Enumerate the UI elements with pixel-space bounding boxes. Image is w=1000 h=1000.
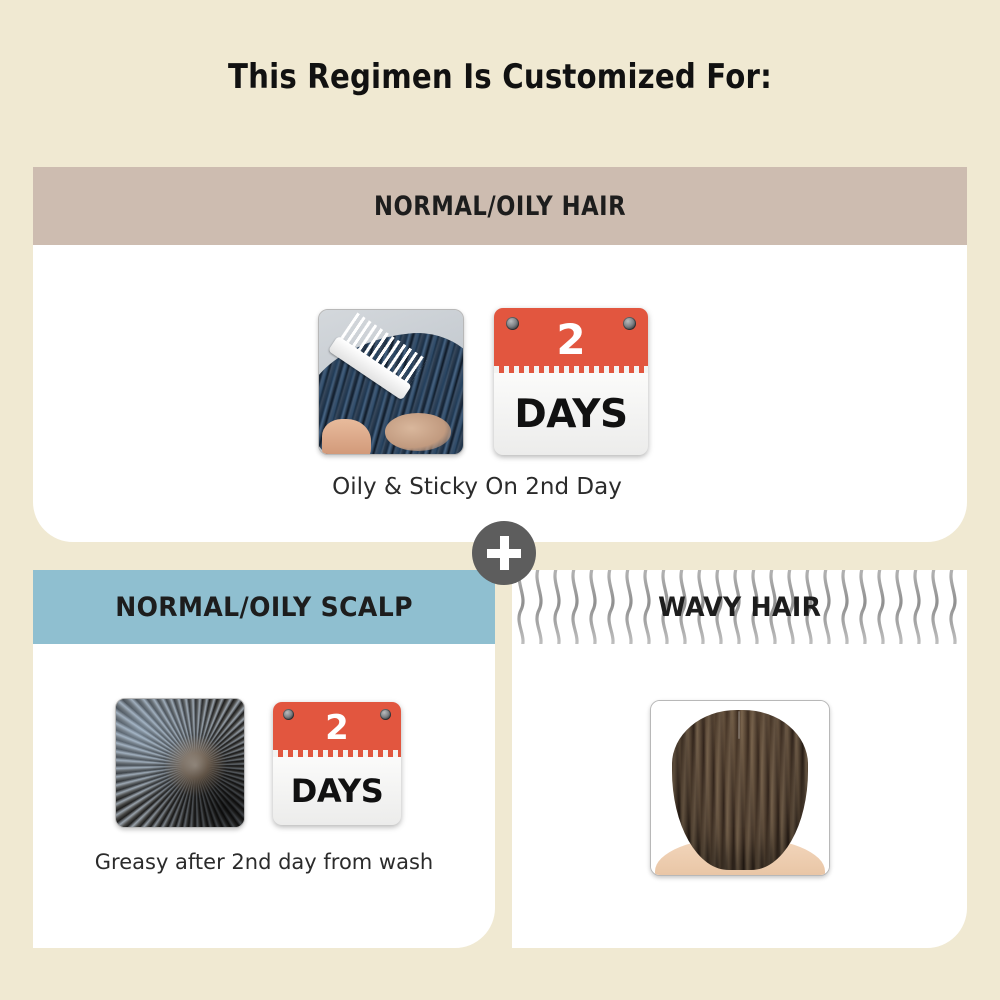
section-header-wavy-hair: WAVY HAIR — [512, 570, 967, 644]
combing-wet-hair-photo — [318, 309, 464, 455]
calendar-unit-label: DAYS — [514, 395, 627, 434]
plus-badge — [472, 521, 536, 585]
caption-normal-oily-hair: Oily & Sticky On 2nd Day — [0, 474, 954, 500]
section-header-label: NORMAL/OILY HAIR — [374, 191, 626, 222]
caption-normal-oily-scalp: Greasy after 2nd day from wash — [33, 850, 495, 874]
calendar-perforation — [494, 366, 648, 373]
calendar-rivet-left-icon — [506, 317, 519, 330]
section-header-label: NORMAL/OILY SCALP — [115, 592, 413, 623]
calendar-top: 2 — [494, 308, 648, 366]
wavy-hair-back-view-photo — [650, 700, 830, 876]
calendar-unit-label: DAYS — [291, 775, 383, 807]
section-header-label: WAVY HAIR — [654, 592, 825, 623]
regimen-infographic: This Regimen Is Customized For: NORMAL/O… — [0, 0, 1000, 1000]
calendar-number: 2 — [556, 319, 585, 361]
calendar-top: 2 — [273, 702, 401, 750]
calendar-2-days-icon: 2 DAYS — [494, 308, 648, 455]
calendar-rivet-left-icon — [283, 709, 294, 720]
scalp-crown-photo — [115, 698, 245, 828]
media-row-wavy-hair — [650, 700, 830, 876]
calendar-number: 2 — [325, 711, 349, 745]
calendar-2-days-icon: 2 DAYS — [273, 702, 401, 825]
plus-icon-vertical — [500, 536, 509, 570]
section-header-normal-oily-hair: NORMAL/OILY HAIR — [33, 167, 967, 245]
calendar-perforation — [273, 750, 401, 757]
calendar-bottom: DAYS — [273, 757, 401, 825]
section-header-normal-oily-scalp: NORMAL/OILY SCALP — [33, 570, 495, 644]
calendar-rivet-right-icon — [623, 317, 636, 330]
page-title: This Regimen Is Customized For: — [70, 57, 930, 97]
calendar-bottom: DAYS — [494, 373, 648, 455]
media-row-normal-oily-hair: 2 DAYS — [318, 308, 648, 455]
media-row-normal-oily-scalp: 2 DAYS — [115, 698, 401, 828]
calendar-rivet-right-icon — [380, 709, 391, 720]
